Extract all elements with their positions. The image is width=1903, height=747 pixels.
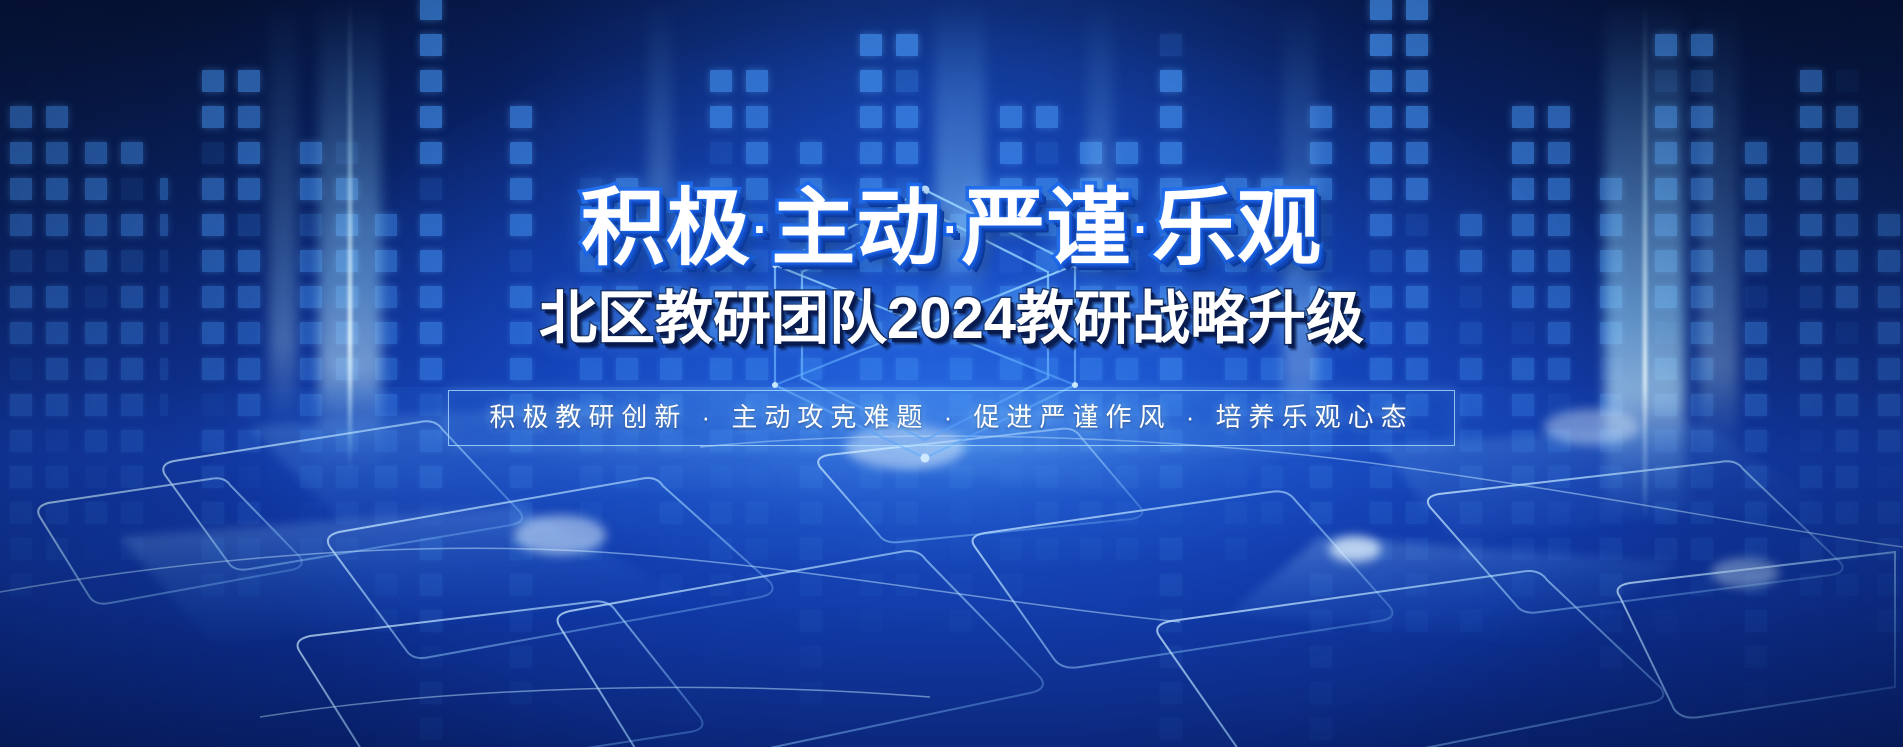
banner-content: 积极·主动·严谨·乐观 北区教研团队2024教研战略升级 积极教研创新 · 主动…: [0, 0, 1903, 747]
tech-banner: 积极·主动·严谨·乐观 北区教研团队2024教研战略升级 积极教研创新 · 主动…: [0, 0, 1903, 747]
main-title-word-3: 严谨: [962, 181, 1132, 275]
main-title-word-2: 主动: [771, 181, 941, 275]
main-title-word-4: 乐观: [1152, 181, 1322, 275]
main-title-sep-2: ·: [941, 203, 961, 255]
tagline-box: 积极教研创新 · 主动攻克难题 · 促进严谨作风 · 培养乐观心态: [448, 390, 1454, 446]
tagline-text: 积极教研创新 · 主动攻克难题 · 促进严谨作风 · 培养乐观心态: [489, 404, 1413, 430]
sub-title: 北区教研团队2024教研战略升级: [539, 290, 1364, 348]
main-title-sep-1: ·: [751, 203, 771, 255]
main-title: 积极·主动·严谨·乐观: [581, 186, 1322, 270]
main-title-sep-3: ·: [1132, 203, 1152, 255]
main-title-word-1: 积极: [581, 181, 751, 275]
